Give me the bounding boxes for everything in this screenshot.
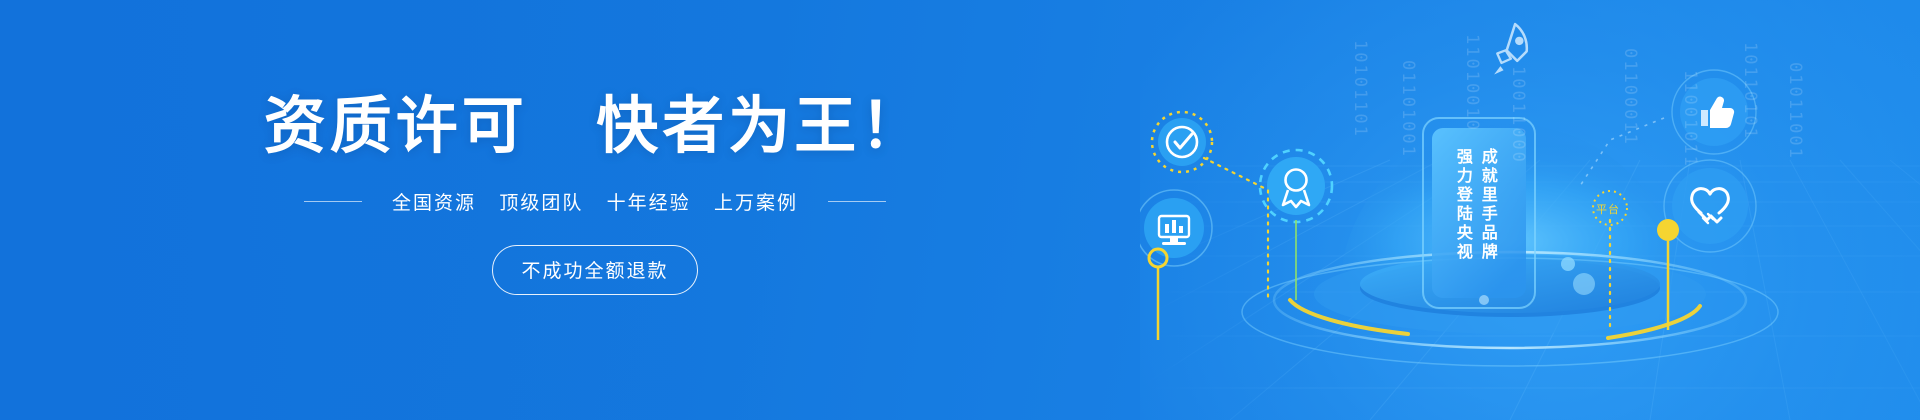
handshake-heart-icon[interactable] xyxy=(1664,160,1756,252)
thumbs-up-icon[interactable] xyxy=(1672,70,1756,154)
headline-part-2: 快者为王！ xyxy=(596,92,926,161)
subtitle-row: 全国资源 顶级团队 十年经验 上万案例 xyxy=(0,188,1190,215)
promo-banner: 资质许可 快者为王！ 全国资源 顶级团队 十年经验 上万案例 不成功全额退款 1… xyxy=(0,0,1920,420)
refund-guarantee-button[interactable]: 不成功全额退款 xyxy=(492,245,697,295)
banner-subtitle: 全国资源 顶级团队 十年经验 上万案例 xyxy=(384,188,806,215)
banner-text-block: 资质许可 快者为王！ 全国资源 顶级团队 十年经验 上万案例 不成功全额退款 xyxy=(0,96,1190,295)
subtitle-item-0: 全国资源 xyxy=(392,193,476,214)
subtitle-item-3: 上万案例 xyxy=(714,193,798,214)
subtitle-rule-right xyxy=(828,201,886,202)
headline-part-1: 资质许可 xyxy=(264,92,528,161)
subtitle-item-2: 十年经验 xyxy=(607,193,691,214)
subtitle-rule-left xyxy=(304,201,362,202)
banner-headline: 资质许可 快者为王！ xyxy=(0,96,1190,158)
subtitle-item-1: 顶级团队 xyxy=(499,193,583,214)
cta-row: 不成功全额退款 xyxy=(0,245,1190,295)
